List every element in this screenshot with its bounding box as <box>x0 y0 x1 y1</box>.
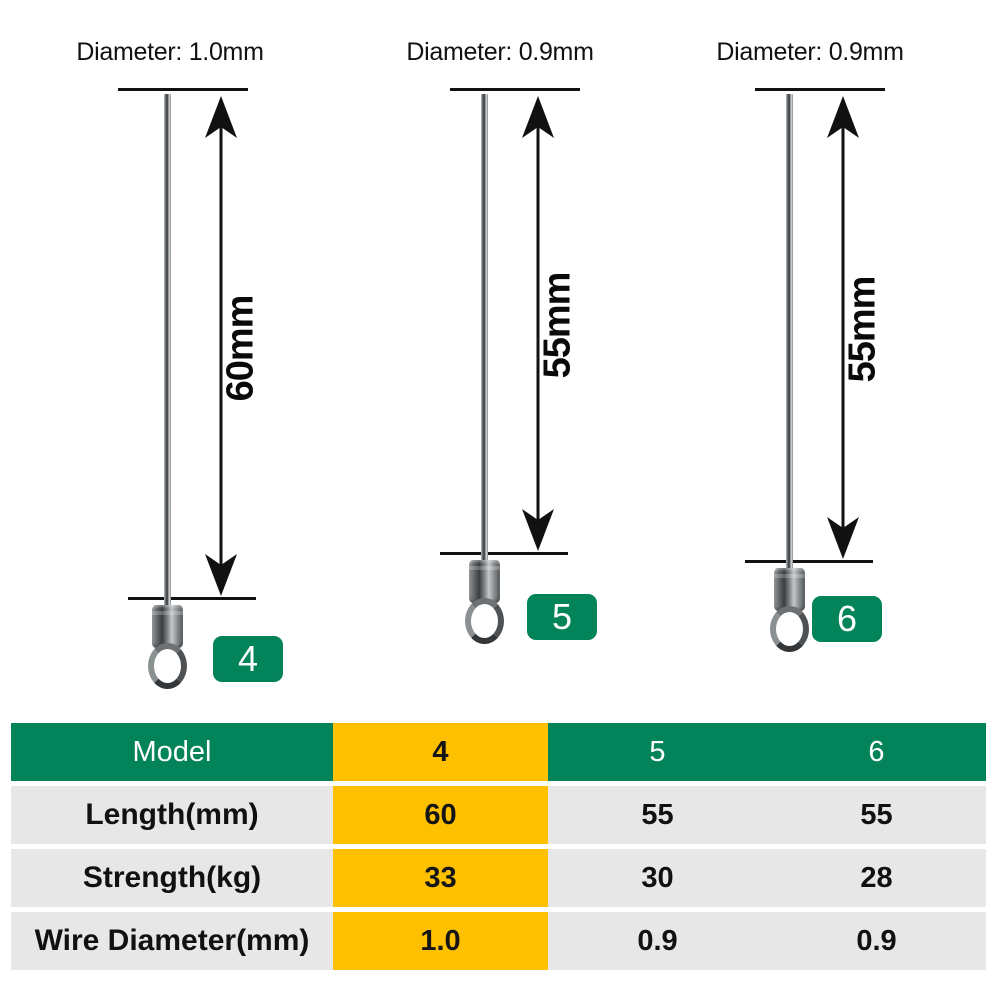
diameter-label-4: Diameter: 1.0mm <box>0 38 340 67</box>
cell-length-5: 55 <box>548 786 767 844</box>
row-label-strength: Strength(kg) <box>11 849 333 907</box>
swivel-eye-5 <box>465 598 504 644</box>
arrow-head-down-4 <box>201 554 241 596</box>
cell-length-6: 55 <box>767 786 986 844</box>
length-label-6: 55mm <box>842 270 885 390</box>
wire-shaft-5 <box>481 94 488 566</box>
table-row: Strength(kg) 33 30 28 <box>11 849 986 907</box>
header-cell-model-6: 6 <box>767 723 986 781</box>
reference-line-top-4 <box>118 88 248 91</box>
cell-wire-diameter-6: 0.9 <box>767 912 986 970</box>
cell-strength-4: 33 <box>333 849 548 907</box>
swivel-barrel-6 <box>774 568 805 611</box>
header-cell-model-4: 4 <box>333 723 548 781</box>
product-illustration-5: Diameter: 0.9mm 55mm 5 <box>340 0 660 720</box>
arrow-head-down-5 <box>518 509 558 551</box>
wire-shaft-6 <box>786 94 793 572</box>
reference-line-top-5 <box>450 88 580 91</box>
cell-wire-diameter-4: 1.0 <box>333 912 548 970</box>
product-spec-sheet: Diameter: 1.0mm 60mm 4 Diameter: 0.9mm <box>0 0 1000 1000</box>
length-label-4: 60mm <box>220 289 263 409</box>
product-illustration-4: Diameter: 1.0mm 60mm 4 <box>0 0 340 720</box>
model-badge-4: 4 <box>213 636 283 682</box>
swivel-barrel-4 <box>152 605 183 648</box>
product-illustration-6: Diameter: 0.9mm 55mm 6 <box>645 0 975 720</box>
arrow-head-up-5 <box>518 96 558 138</box>
table-row: Wire Diameter(mm) 1.0 0.9 0.9 <box>11 912 986 970</box>
arrow-head-up-6 <box>823 96 863 138</box>
arrow-head-up-4 <box>201 96 241 138</box>
table-header-row: Model 4 5 6 <box>11 723 986 781</box>
header-cell-model: Model <box>11 723 333 781</box>
specification-table: Model 4 5 6 Length(mm) 60 55 55 Strength… <box>11 723 986 970</box>
model-badge-6: 6 <box>812 596 882 642</box>
arrow-head-down-6 <box>823 517 863 559</box>
diameter-label-6: Diameter: 0.9mm <box>645 38 975 67</box>
table-row: Length(mm) 60 55 55 <box>11 786 986 844</box>
cell-strength-5: 30 <box>548 849 767 907</box>
cell-strength-6: 28 <box>767 849 986 907</box>
cell-wire-diameter-5: 0.9 <box>548 912 767 970</box>
swivel-barrel-5 <box>469 560 500 603</box>
diameter-label-5: Diameter: 0.9mm <box>340 38 660 67</box>
header-cell-model-5: 5 <box>548 723 767 781</box>
swivel-eye-4 <box>148 643 187 689</box>
row-label-length: Length(mm) <box>11 786 333 844</box>
reference-line-bottom-5 <box>440 552 568 555</box>
model-badge-5: 5 <box>527 594 597 640</box>
reference-line-bottom-4 <box>128 597 256 600</box>
reference-line-top-6 <box>755 88 885 91</box>
length-label-5: 55mm <box>537 266 580 386</box>
reference-line-bottom-6 <box>745 560 873 563</box>
cell-length-4: 60 <box>333 786 548 844</box>
wire-shaft-4 <box>164 94 171 614</box>
swivel-eye-6 <box>770 606 809 652</box>
row-label-wire-diameter: Wire Diameter(mm) <box>11 912 333 970</box>
